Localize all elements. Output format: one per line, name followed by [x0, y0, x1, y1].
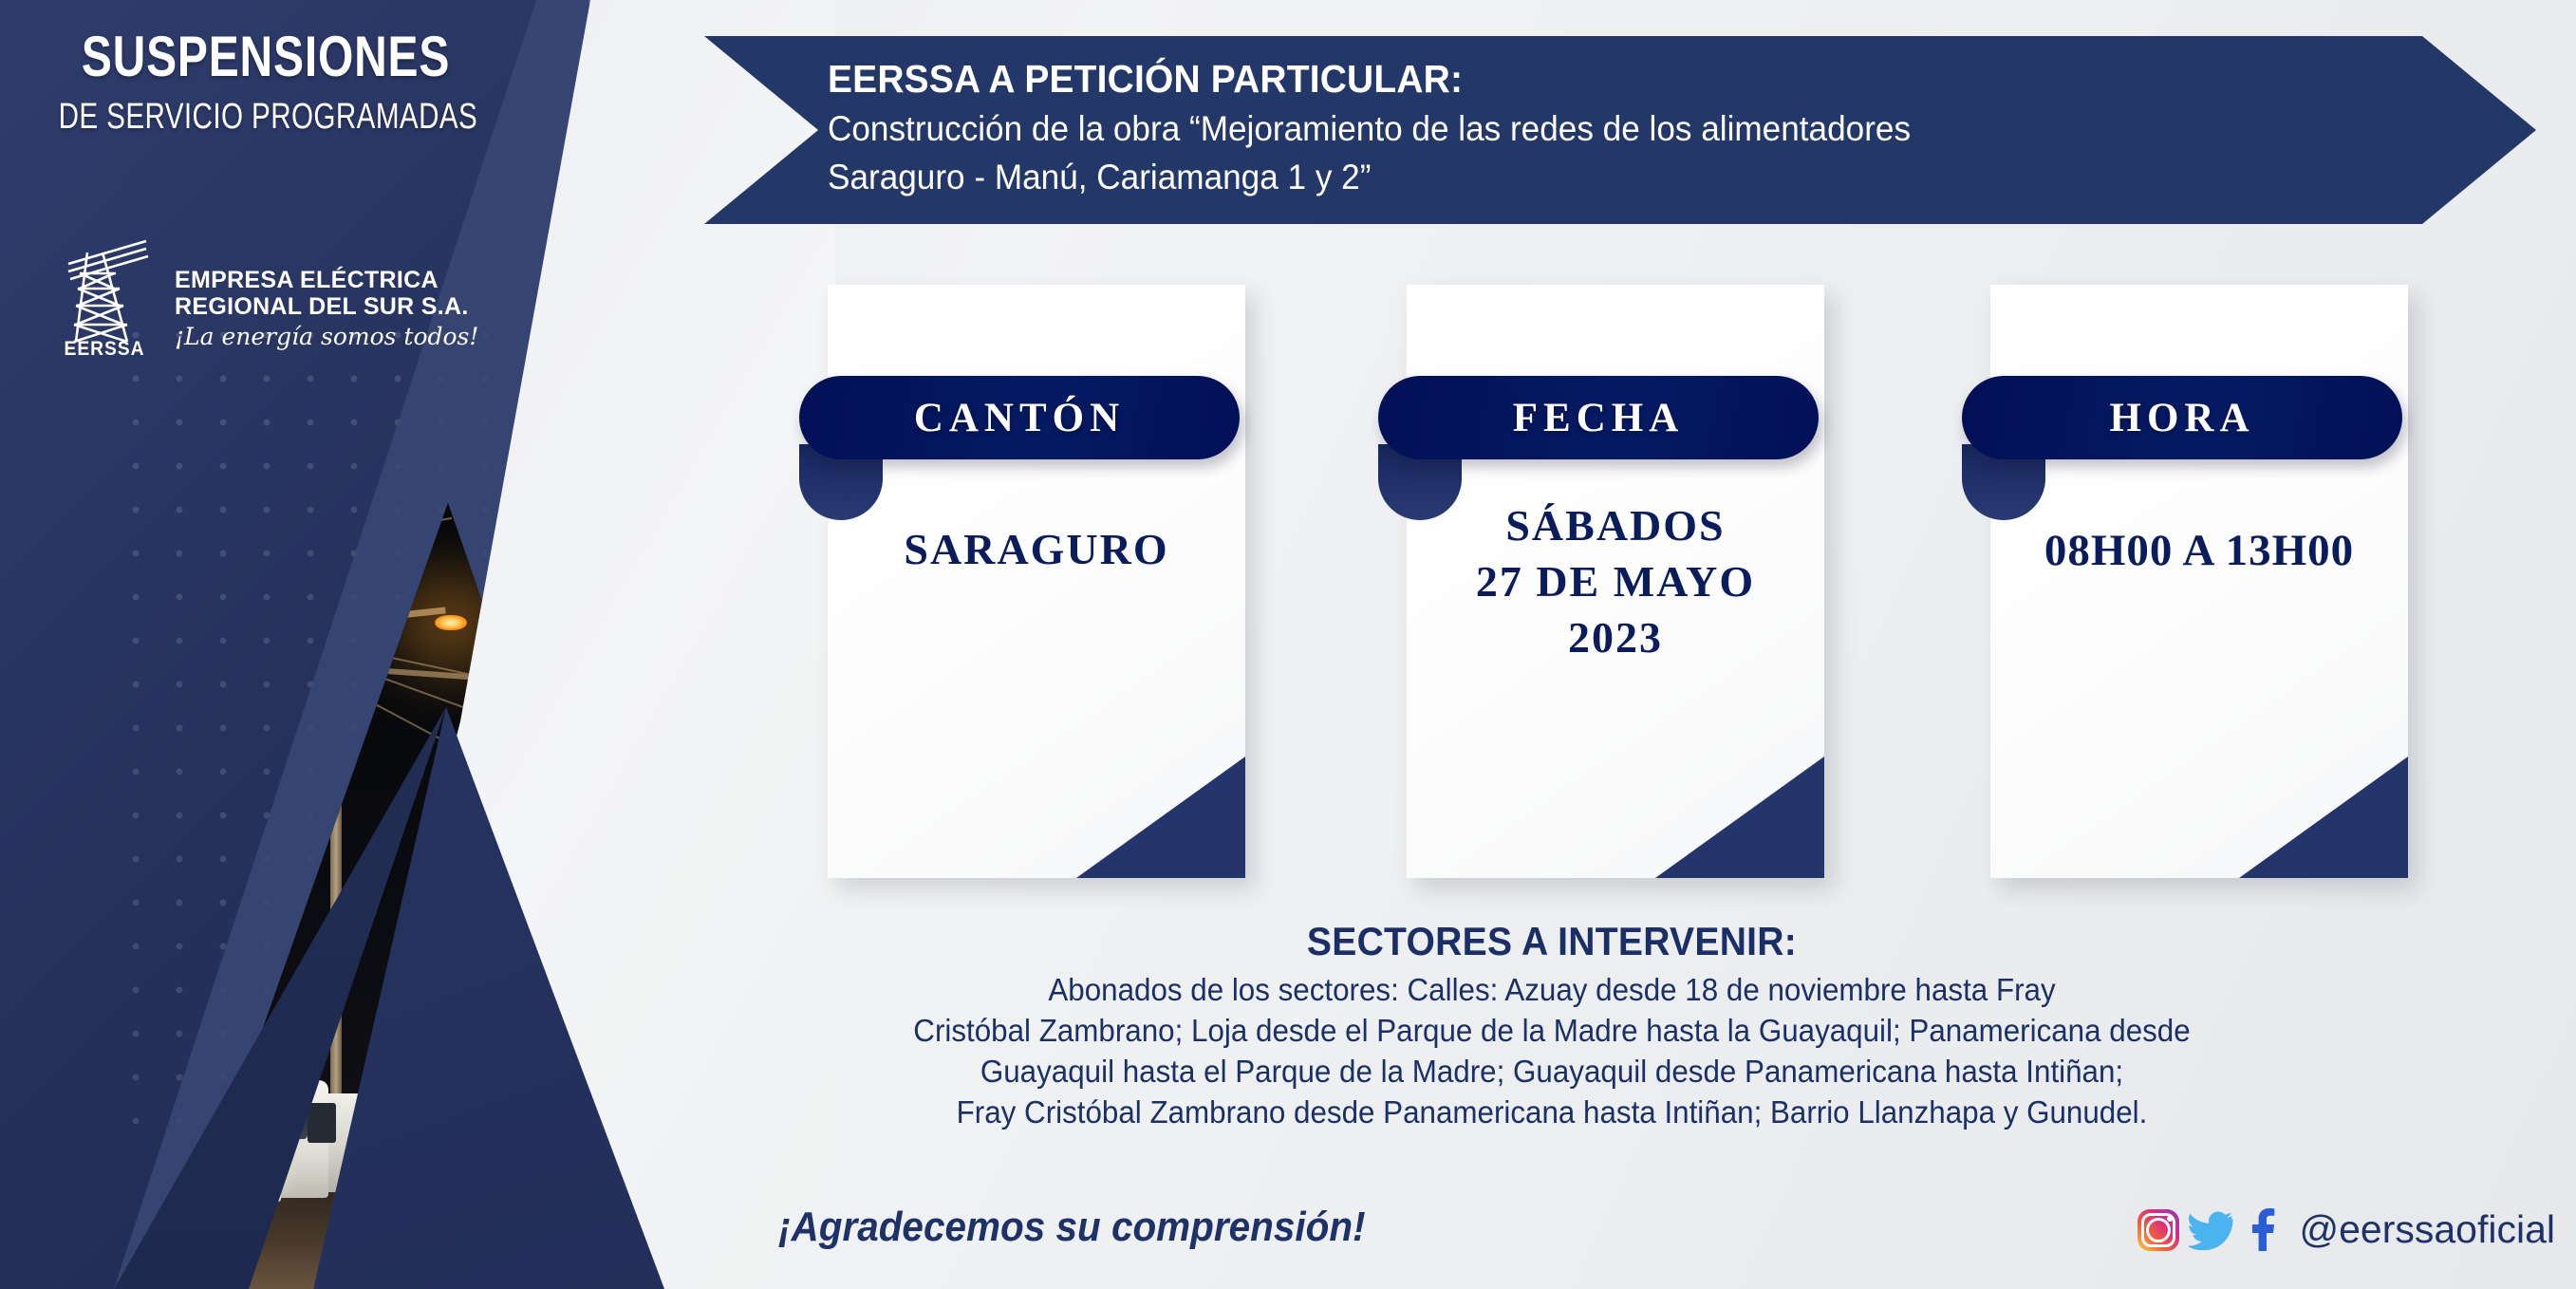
title-line-2: DE SERVICIO PROGRAMADAS: [59, 99, 474, 135]
announcement-banner: EERSSA A PETICIÓN PARTICULAR: Construcci…: [704, 36, 2536, 224]
sectors-heading: SECTORES A INTERVENIR:: [726, 919, 2377, 964]
card-fecha: FECHA SÁBADOS 27 DE MAYO 2023: [1378, 285, 1824, 878]
facebook-icon[interactable]: [2244, 1208, 2282, 1252]
card-label-pill: CANTÓN: [799, 376, 1240, 459]
banner-heading: EERSSA A PETICIÓN PARTICULAR:: [828, 55, 2379, 103]
social-links: @eerssaoficial: [2137, 1207, 2555, 1252]
card-sheet: [828, 285, 1245, 878]
company-line-2: REGIONAL DEL SUR S.A.: [175, 293, 478, 320]
transmission-tower-icon: EERSSA: [55, 235, 154, 357]
card-value: 08H00 A 13H00: [1962, 522, 2436, 579]
twitter-icon[interactable]: [2189, 1210, 2234, 1250]
eerssa-logo: EERSSA EMPRESA ELÉCTRICA REGIONAL DEL SU…: [55, 235, 478, 357]
card-label: HORA: [2110, 395, 2255, 441]
card-canton: CANTÓN SARAGURO: [799, 285, 1245, 878]
logo-mark-label: EERSSA: [59, 338, 150, 361]
company-line-1: EMPRESA ELÉCTRICA: [175, 267, 478, 293]
sectors-section: SECTORES A INTERVENIR: Abonados de los s…: [664, 919, 2439, 1133]
card-label-pill: FECHA: [1378, 376, 1819, 459]
card-label: CANTÓN: [914, 395, 1125, 441]
side-window: [308, 1103, 336, 1143]
card-value-line: 27 DE MAYO: [1407, 554, 1824, 610]
card-value-line: SÁBADOS: [1407, 498, 1824, 554]
sectors-line: Fray Cristóbal Zambrano desde Panamerica…: [709, 1093, 2396, 1133]
sectors-line: Guayaquil hasta el Parque de la Madre; G…: [709, 1052, 2396, 1093]
info-cards: CANTÓN SARAGURO FECHA SÁBADOS 27 DE MAYO…: [704, 285, 2508, 911]
card-label: FECHA: [1513, 395, 1685, 441]
card-corner-fold: [2239, 757, 2408, 878]
card-value-line: 2023: [1407, 610, 1824, 666]
title-line-1: SUSPENSIONES: [53, 28, 478, 85]
banner-line-2: Saraguro - Manú, Cariamanga 1 y 2”: [828, 155, 2379, 199]
card-sheet: [1990, 285, 2408, 878]
company-slogan: ¡La energía somos todos!: [175, 320, 478, 353]
card-value: SÁBADOS 27 DE MAYO 2023: [1407, 498, 1824, 666]
logo-company-text: EMPRESA ELÉCTRICA REGIONAL DEL SUR S.A. …: [175, 267, 478, 357]
social-handle[interactable]: @eerssaoficial: [2299, 1207, 2555, 1252]
sectors-body: Abonados de los sectores: Calles: Azuay …: [709, 970, 2396, 1133]
street-lamp-glow: [435, 615, 467, 630]
sectors-line: Abonados de los sectores: Calles: Azuay …: [709, 970, 2396, 1011]
card-hora: HORA 08H00 A 13H00: [1962, 285, 2408, 878]
card-corner-fold: [1655, 757, 1824, 878]
poster-title: SUSPENSIONES DE SERVICIO PROGRAMADAS: [0, 28, 532, 135]
banner-line-1: Construcción de la obra “Mejoramiento de…: [828, 106, 2379, 151]
instagram-icon[interactable]: [2137, 1209, 2179, 1251]
sectors-line: Cristóbal Zambrano; Loja desde el Parque…: [709, 1011, 2396, 1052]
thanks-message: ¡Agradecemos su comprensión!: [778, 1204, 1366, 1251]
card-value: SARAGURO: [828, 522, 1245, 578]
card-label-pill: HORA: [1962, 376, 2402, 459]
card-corner-fold: [1076, 757, 1245, 878]
infographic-canvas: E.E.R.S.S.A. EERSSA 2-79 SUSPENSIONES DE…: [0, 0, 2576, 1289]
